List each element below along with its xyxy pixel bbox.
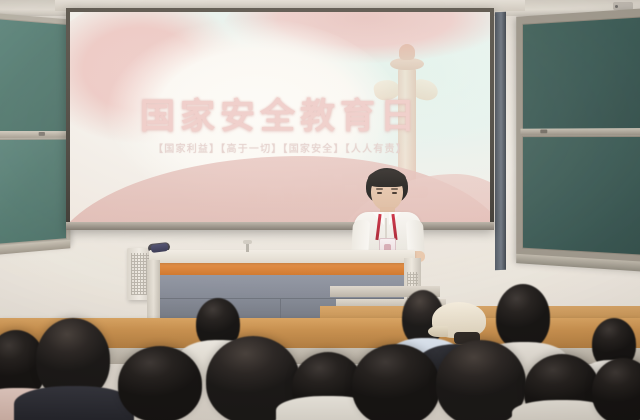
chalk-ledge: [520, 128, 640, 135]
chalkboard-panel-top: [0, 18, 67, 132]
chalkboard-panel-top: [522, 16, 640, 130]
audience-body: [14, 386, 134, 420]
podium-microphone-icon: [246, 242, 249, 252]
presenter-hair: [368, 170, 406, 187]
presenter-eye-right: [392, 192, 397, 194]
presenter-brow-right: [391, 188, 398, 190]
podium-surface: [149, 250, 415, 263]
right-chalkboard-edge: [495, 12, 506, 270]
audience-head: [436, 340, 526, 420]
audience-head: [352, 344, 440, 420]
chalkboard-panel-bottom: [522, 136, 640, 256]
right-chalkboard: [516, 8, 640, 270]
left-chalkboard: [0, 13, 70, 251]
chalkboard-panel-bottom: [0, 139, 67, 245]
podium-accent-band: [155, 263, 409, 275]
slide-title: 国家安全教育日: [70, 88, 490, 139]
podium-left-post: [147, 260, 160, 322]
presenter-at-podium: [341, 168, 433, 260]
slide-pink-blob-top: [220, 12, 490, 64]
audience-head: [496, 284, 550, 350]
audience-head: [118, 346, 202, 420]
slide-subtitle: 【国家利益】【高于一切】【国家安全】【人人有责】: [70, 140, 490, 155]
classroom-photo: 国家安全教育日 【国家利益】【高于一切】【国家安全】【人人有责】: [0, 0, 640, 420]
presenter-eye-left: [377, 192, 382, 194]
chalk-ledge: [0, 131, 69, 138]
presenter-brow-left: [376, 188, 383, 190]
huabiao-finial: [399, 44, 415, 60]
